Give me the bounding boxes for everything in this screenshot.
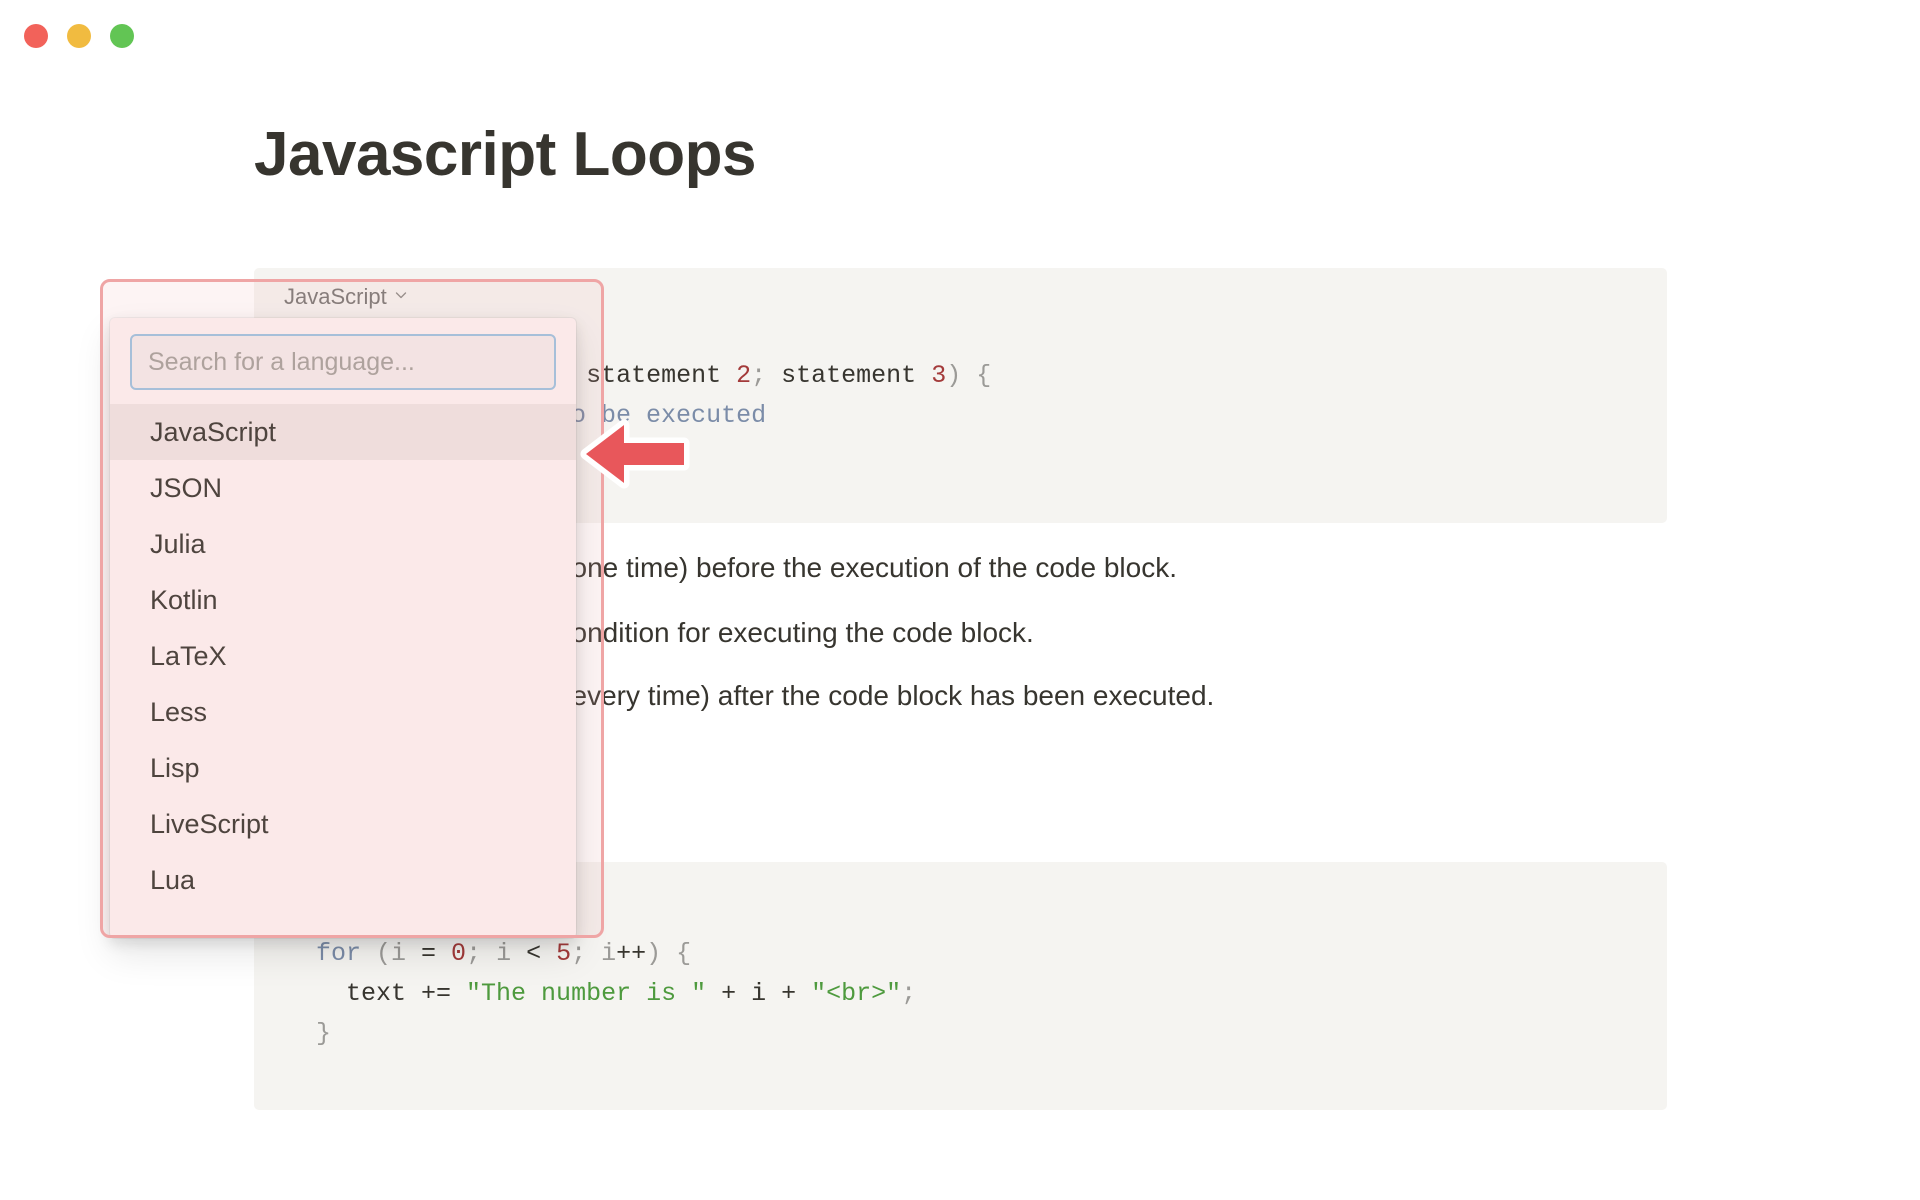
code2-token-semi-1: ; i	[466, 939, 526, 968]
app-window: Javascript Loops JavaScript for (stateme…	[0, 0, 1920, 1200]
code-token-semicolon-2: ;	[751, 361, 781, 390]
code2-token-i: i	[751, 979, 766, 1008]
code2-token-semi-2: ; i	[571, 939, 616, 968]
language-option-label: JSON	[150, 473, 222, 504]
code2-token-semicolon: ;	[901, 979, 916, 1008]
language-option-livescript[interactable]: LiveScript	[110, 796, 576, 852]
code-token-number-3: 3	[931, 361, 946, 390]
language-option-json[interactable]: JSON	[110, 460, 576, 516]
code2-token-zero: 0	[451, 939, 466, 968]
language-option-latex[interactable]: LaTeX	[110, 628, 576, 684]
language-option-lisp[interactable]: Lisp	[110, 740, 576, 796]
code2-token-increment: ++	[616, 939, 646, 968]
language-option-label: Julia	[150, 529, 206, 560]
code2-token-lessthan: <	[526, 939, 556, 968]
code2-token-equals: =	[421, 939, 451, 968]
code-token-statement-3: statement	[781, 361, 931, 390]
language-option-label: Lua	[150, 865, 195, 896]
code-token-statement-2: statement	[586, 361, 736, 390]
language-option-julia[interactable]: Julia	[110, 516, 576, 572]
code2-token-rest-a: (i	[361, 939, 421, 968]
language-option-javascript[interactable]: JavaScript	[110, 404, 576, 460]
code2-token-for: for	[316, 939, 361, 968]
code-content-2: for (i = 0; i < 5; i++) { text += "The n…	[316, 934, 916, 1054]
annotation-arrow-left-icon	[580, 415, 692, 495]
code2-token-five: 5	[556, 939, 571, 968]
code2-closing-brace: }	[316, 1019, 331, 1048]
page-title: Javascript Loops	[254, 121, 756, 189]
chevron-down-icon	[394, 288, 408, 302]
code2-token-string-2: "<br>"	[811, 979, 901, 1008]
language-search-input[interactable]	[130, 334, 556, 390]
code2-token-plus-2: +	[766, 979, 811, 1008]
code2-token-var: text	[346, 979, 421, 1008]
language-option-label: JavaScript	[150, 417, 276, 448]
language-option-lua[interactable]: Lua	[110, 852, 576, 908]
language-dropdown-popover: JavaScript JSON Julia Kotlin LaTeX Less …	[110, 318, 576, 938]
code2-token-close: ) {	[646, 939, 691, 968]
code2-token-plus-equals: +=	[421, 979, 466, 1008]
code-token-number-2: 2	[736, 361, 751, 390]
language-option-kotlin[interactable]: Kotlin	[110, 572, 576, 628]
language-search-wrapper	[110, 318, 576, 404]
language-option-label: LiveScript	[150, 809, 269, 840]
language-option-list: JavaScript JSON Julia Kotlin LaTeX Less …	[110, 404, 576, 912]
code2-indent	[316, 979, 346, 1008]
language-option-label: Kotlin	[150, 585, 218, 616]
language-option-label: LaTeX	[150, 641, 227, 672]
language-selector-button[interactable]: JavaScript	[278, 280, 414, 314]
language-option-label: Lisp	[150, 753, 200, 784]
language-selector-label: JavaScript	[284, 284, 387, 310]
code2-token-string-1: "The number is "	[466, 979, 706, 1008]
language-option-less[interactable]: Less	[110, 684, 576, 740]
code2-token-plus-1: +	[706, 979, 751, 1008]
code-token-close-brace: ) {	[946, 361, 991, 390]
language-option-label: Less	[150, 697, 207, 728]
